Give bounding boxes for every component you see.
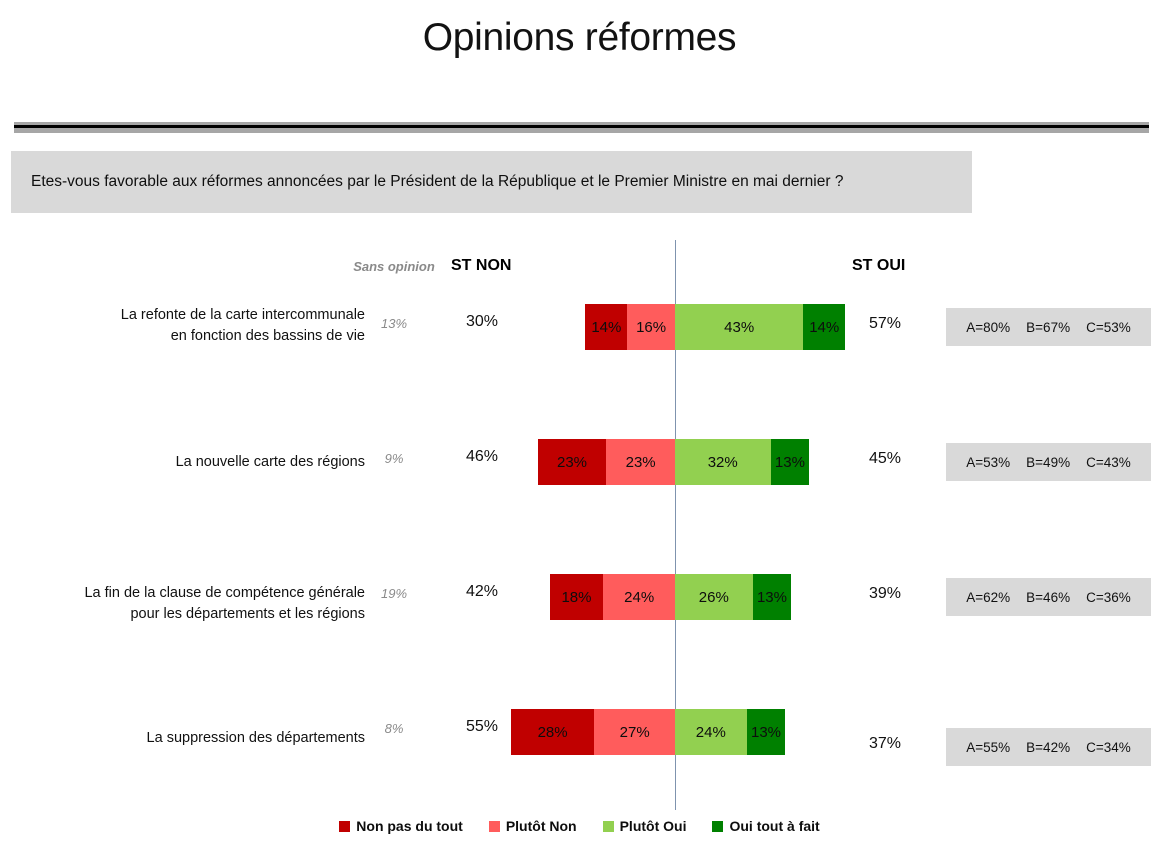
- legend-label: Non pas du tout: [356, 818, 463, 834]
- legend-item[interactable]: Plutôt Oui: [603, 818, 687, 834]
- row-label-line: pour les départements et les régions: [10, 604, 365, 625]
- significance-box: A=53%B=49%C=43%: [946, 443, 1151, 481]
- significance-value: C=43%: [1086, 455, 1131, 470]
- legend-swatch-icon: [339, 821, 350, 832]
- chart-row: La suppression des départements8%55%28%2…: [0, 240, 1159, 375]
- bar-segment: 13%: [771, 439, 810, 485]
- chart-legend: Non pas du toutPlutôt NonPlutôt OuiOui t…: [0, 818, 1159, 834]
- significance-value: A=55%: [966, 740, 1010, 755]
- row-label-line: La nouvelle carte des régions: [10, 452, 365, 473]
- legend-label: Oui tout à fait: [729, 818, 819, 834]
- page-title: Opinions réformes: [0, 16, 1159, 60]
- significance-value: A=62%: [966, 590, 1010, 605]
- significance-value: C=36%: [1086, 590, 1131, 605]
- row-value-sans-opinion: 9%: [352, 451, 436, 466]
- row-value-st-non: 42%: [447, 583, 517, 601]
- bar-segment: 13%: [747, 709, 786, 755]
- legend-swatch-icon: [712, 821, 723, 832]
- stacked-bar: 18%24%26%13%: [550, 574, 792, 620]
- legend-swatch-icon: [489, 821, 500, 832]
- row-value-sans-opinion: 8%: [352, 721, 436, 736]
- legend-item[interactable]: Oui tout à fait: [712, 818, 819, 834]
- significance-box: A=62%B=46%C=36%: [946, 578, 1151, 616]
- row-value-sans-opinion: 19%: [352, 586, 436, 601]
- diverging-bar-chart: Sans opinion ST NON ST OUI La refonte de…: [0, 240, 1159, 854]
- row-label-line: La suppression des départements: [10, 728, 365, 749]
- row-category-label: La suppression des départements: [10, 728, 365, 749]
- bar-segment: 13%: [753, 574, 792, 620]
- row-category-label: La fin de la clause de compétence généra…: [10, 583, 365, 625]
- significance-value: A=53%: [966, 455, 1010, 470]
- legend-item[interactable]: Non pas du tout: [339, 818, 463, 834]
- bar-segment: 18%: [550, 574, 604, 620]
- significance-box: A=55%B=42%C=34%: [946, 728, 1151, 766]
- legend-label: Plutôt Non: [506, 818, 577, 834]
- significance-value: C=34%: [1086, 740, 1131, 755]
- legend-item[interactable]: Plutôt Non: [489, 818, 577, 834]
- legend-label: Plutôt Oui: [620, 818, 687, 834]
- row-value-st-non: 55%: [447, 718, 517, 736]
- stacked-bar: 23%23%32%13%: [538, 439, 810, 485]
- bar-segment: 28%: [511, 709, 595, 755]
- significance-value: B=42%: [1026, 740, 1070, 755]
- bar-segment: 24%: [603, 574, 675, 620]
- question-text: Etes-vous favorable aux réformes annoncé…: [31, 151, 843, 213]
- bar-segment: 23%: [606, 439, 675, 485]
- stacked-bar: 28%27%24%13%: [511, 709, 786, 755]
- bar-segment: 27%: [594, 709, 675, 755]
- row-value-st-oui: 37%: [850, 735, 920, 753]
- row-label-line: La fin de la clause de compétence généra…: [10, 583, 365, 604]
- question-banner: Etes-vous favorable aux réformes annoncé…: [11, 151, 972, 213]
- row-value-st-oui: 45%: [850, 450, 920, 468]
- significance-value: B=46%: [1026, 590, 1070, 605]
- legend-swatch-icon: [603, 821, 614, 832]
- bar-segment: 23%: [538, 439, 607, 485]
- bar-segment: 26%: [675, 574, 753, 620]
- title-divider-rule: [14, 122, 1149, 133]
- row-value-st-non: 46%: [447, 448, 517, 466]
- row-category-label: La nouvelle carte des régions: [10, 452, 365, 473]
- row-value-st-oui: 39%: [850, 585, 920, 603]
- significance-value: B=49%: [1026, 455, 1070, 470]
- bar-segment: 32%: [675, 439, 771, 485]
- bar-segment: 24%: [675, 709, 747, 755]
